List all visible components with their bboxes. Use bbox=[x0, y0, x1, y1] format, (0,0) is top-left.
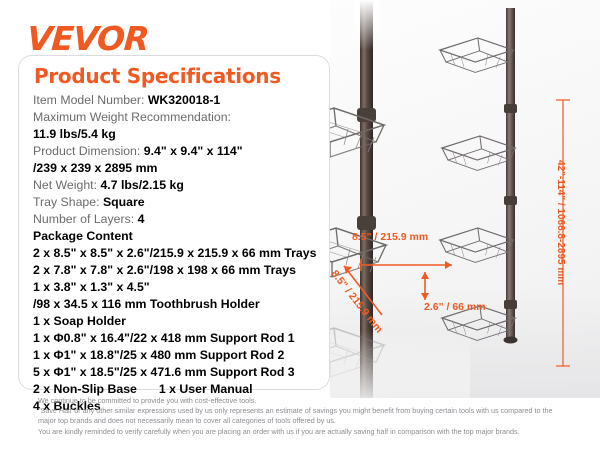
spec-row: Tray Shape: Square bbox=[33, 194, 333, 211]
vevor-logo: VEVOR bbox=[26, 22, 150, 55]
spec-row: 11.9 lbs/5.4 kg bbox=[33, 126, 333, 143]
spec-row: Item Model Number: WK320018-1 bbox=[33, 92, 333, 109]
disclaimer-text: We continue to be committed to provide y… bbox=[38, 396, 594, 437]
package-item: 1 x 3.8" x 1.3" x 4.5" bbox=[33, 279, 333, 296]
spec-row: Maximum Weight Recommendation: bbox=[33, 109, 333, 126]
caddy-left-view bbox=[330, 0, 470, 398]
height-dimension-label: 42"-114" / 1066.8-2895 mm bbox=[555, 160, 566, 285]
package-item: 1 x Φ0.8" x 16.4"/22 x 418 mm Support Ro… bbox=[33, 330, 333, 347]
package-item: 1 x Φ1" x 18.8"/25 x 480 mm Support Rod … bbox=[33, 347, 333, 364]
package-content-heading: Package Content bbox=[33, 228, 333, 245]
spec-row: Product Dimension: 9.4" x 9.4" x 114" bbox=[33, 143, 333, 160]
disclaimer-line: "Save Half"or any other similar expressi… bbox=[38, 406, 594, 416]
product-specifications-card: Product Specifications Item Model Number… bbox=[18, 55, 330, 390]
package-item: 5 x Φ1" x 18.5"/25 x 471.6 mm Support Ro… bbox=[33, 364, 333, 381]
tray-height-dimension-label: 2.6" / 66 mm bbox=[424, 301, 486, 313]
page-title: Product Specifications bbox=[34, 64, 281, 88]
disclaimer-line: You are kindly reminded to verify carefu… bbox=[38, 427, 594, 437]
package-item: /98 x 34.5 x 116 mm Toothbrush Holder bbox=[33, 296, 333, 313]
width-dimension-label: 8.5" / 215.9 mm bbox=[352, 231, 428, 243]
product-spec-page: VEVOR Product Specifications Item Model … bbox=[0, 0, 600, 450]
disclaimer-line: major top brands and does not necessaril… bbox=[38, 416, 594, 426]
package-item: 2 x 7.8" x 7.8" x 2.6"/198 x 198 x 66 mm… bbox=[33, 262, 333, 279]
spec-row: Net Weight: 4.7 lbs/2.15 kg bbox=[33, 177, 333, 194]
package-item: 2 x 8.5" x 8.5" x 2.6"/215.9 x 215.9 x 6… bbox=[33, 245, 333, 262]
spec-row: Number of Layers: 4 bbox=[33, 211, 333, 228]
spec-list: Item Model Number: WK320018-1 Maximum We… bbox=[33, 92, 333, 415]
disclaimer-line: We continue to be committed to provide y… bbox=[38, 396, 594, 406]
spec-row: /239 x 239 x 2895 mm bbox=[33, 160, 333, 177]
package-item: 1 x Soap Holder bbox=[33, 313, 333, 330]
caddy-right-view bbox=[440, 8, 518, 344]
